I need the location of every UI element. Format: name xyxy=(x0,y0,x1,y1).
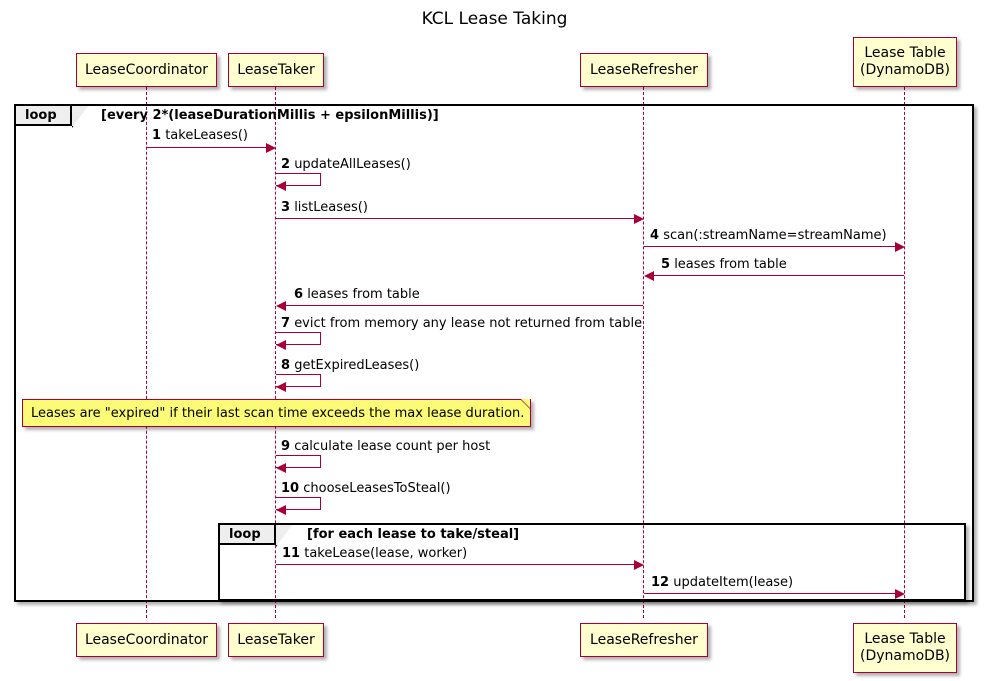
message-4-text: scan(:streamName=streamName) xyxy=(663,228,886,243)
message-7-label: 7 evict from memory any lease not return… xyxy=(281,316,642,331)
diagram-title: KCL Lease Taking xyxy=(0,9,989,29)
message-11-arrowhead xyxy=(634,560,644,570)
message-5-label: 5 leases from table xyxy=(661,257,787,272)
participant-label: LeaseRefresher xyxy=(590,632,698,649)
participant-leasecoordinator-bottom[interactable]: LeaseCoordinator xyxy=(76,623,217,657)
message-1-text: takeLeases() xyxy=(165,128,248,143)
message-12-arrowhead xyxy=(895,589,905,599)
participant-lease-table-bottom[interactable]: Lease Table (DynamoDB) xyxy=(853,623,957,673)
message-11-text: takeLease(lease, worker) xyxy=(304,546,467,561)
participant-label: LeaseTaker xyxy=(237,632,314,649)
message-2-arrowhead xyxy=(276,181,286,191)
participant-leasetaker-bottom[interactable]: LeaseTaker xyxy=(228,623,324,657)
message-9-text: calculate lease count per host xyxy=(294,439,490,454)
message-6-number: 6 xyxy=(294,287,303,302)
message-2-number: 2 xyxy=(281,157,290,172)
message-11-number: 11 xyxy=(282,546,300,561)
message-8-number: 8 xyxy=(281,358,290,373)
message-10-arrowhead xyxy=(276,505,286,515)
participant-label: LeaseCoordinator xyxy=(85,62,208,79)
message-5-line xyxy=(654,275,904,276)
message-8-arrowhead xyxy=(276,382,286,392)
message-10-number: 10 xyxy=(281,481,299,496)
message-6-label: 6 leases from table xyxy=(294,287,420,302)
message-1-arrowhead xyxy=(266,143,276,153)
fragment-inner-loop-label: loop xyxy=(229,526,261,544)
participant-leasetaker-top[interactable]: LeaseTaker xyxy=(228,53,324,87)
message-5-number: 5 xyxy=(661,257,670,272)
message-8-text: getExpiredLeases() xyxy=(294,358,419,373)
message-4-label: 4 scan(:streamName=streamName) xyxy=(650,228,887,243)
participant-leasecoordinator-top[interactable]: LeaseCoordinator xyxy=(76,53,217,87)
message-4-line xyxy=(644,246,897,247)
message-12-line xyxy=(644,593,897,594)
message-3-arrowhead xyxy=(634,214,644,224)
message-1-line xyxy=(147,147,268,148)
participant-label: Lease Table xyxy=(864,45,945,62)
message-1-label: 1 takeLeases() xyxy=(152,128,248,143)
note-fold-corner-inner xyxy=(521,399,530,408)
note-expired-leases: Leases are "expired" if their last scan … xyxy=(22,399,531,427)
message-3-text: listLeases() xyxy=(294,200,368,215)
fragment-inner-loop-condition: [for each lease to take/steal] xyxy=(307,527,519,542)
message-9-number: 9 xyxy=(281,439,290,454)
message-3-line xyxy=(276,218,636,219)
message-6-arrowhead xyxy=(276,301,286,311)
message-7-arrowhead xyxy=(276,340,286,350)
message-2-label: 2 updateAllLeases() xyxy=(281,157,411,172)
participant-sublabel: (DynamoDB) xyxy=(860,648,950,665)
message-10-label: 10 chooseLeasesToSteal() xyxy=(281,481,451,496)
fragment-outer-loop-condition: [every 2*(leaseDurationMillis + epsilonM… xyxy=(101,108,439,123)
message-8-label: 8 getExpiredLeases() xyxy=(281,358,419,373)
fragment-outer-loop-label: loop xyxy=(25,107,57,125)
message-12-label: 12 updateItem(lease) xyxy=(651,575,793,590)
message-6-text: leases from table xyxy=(307,287,420,302)
message-3-label: 3 listLeases() xyxy=(281,200,368,215)
participant-label: LeaseTaker xyxy=(237,62,314,79)
participant-leaserefresher-bottom[interactable]: LeaseRefresher xyxy=(580,623,708,657)
message-1-number: 1 xyxy=(152,128,161,143)
participant-label: LeaseCoordinator xyxy=(85,632,208,649)
message-4-arrowhead xyxy=(895,242,905,252)
message-7-number: 7 xyxy=(281,316,290,331)
note-text: Leases are "expired" if their last scan … xyxy=(31,406,524,421)
message-5-text: leases from table xyxy=(674,257,787,272)
message-3-number: 3 xyxy=(281,200,290,215)
participant-lease-table-top[interactable]: Lease Table (DynamoDB) xyxy=(853,37,957,87)
participant-label: Lease Table xyxy=(864,631,945,648)
message-2-text: updateAllLeases() xyxy=(294,157,411,172)
message-10-text: chooseLeasesToSteal() xyxy=(303,481,450,496)
participant-leaserefresher-top[interactable]: LeaseRefresher xyxy=(580,53,708,87)
message-9-label: 9 calculate lease count per host xyxy=(281,439,490,454)
message-11-label: 11 takeLease(lease, worker) xyxy=(282,546,467,561)
message-7-text: evict from memory any lease not returned… xyxy=(294,316,642,331)
message-5-arrowhead xyxy=(644,271,654,281)
participant-sublabel: (DynamoDB) xyxy=(860,62,950,79)
message-12-text: updateItem(lease) xyxy=(673,575,793,590)
sequence-diagram-canvas: KCL Lease Taking LeaseCoordinator LeaseT… xyxy=(0,0,989,681)
message-12-number: 12 xyxy=(651,575,669,590)
participant-label: LeaseRefresher xyxy=(590,62,698,79)
message-9-arrowhead xyxy=(276,463,286,473)
message-11-line xyxy=(276,564,636,565)
message-6-line xyxy=(286,305,643,306)
message-4-number: 4 xyxy=(650,228,659,243)
